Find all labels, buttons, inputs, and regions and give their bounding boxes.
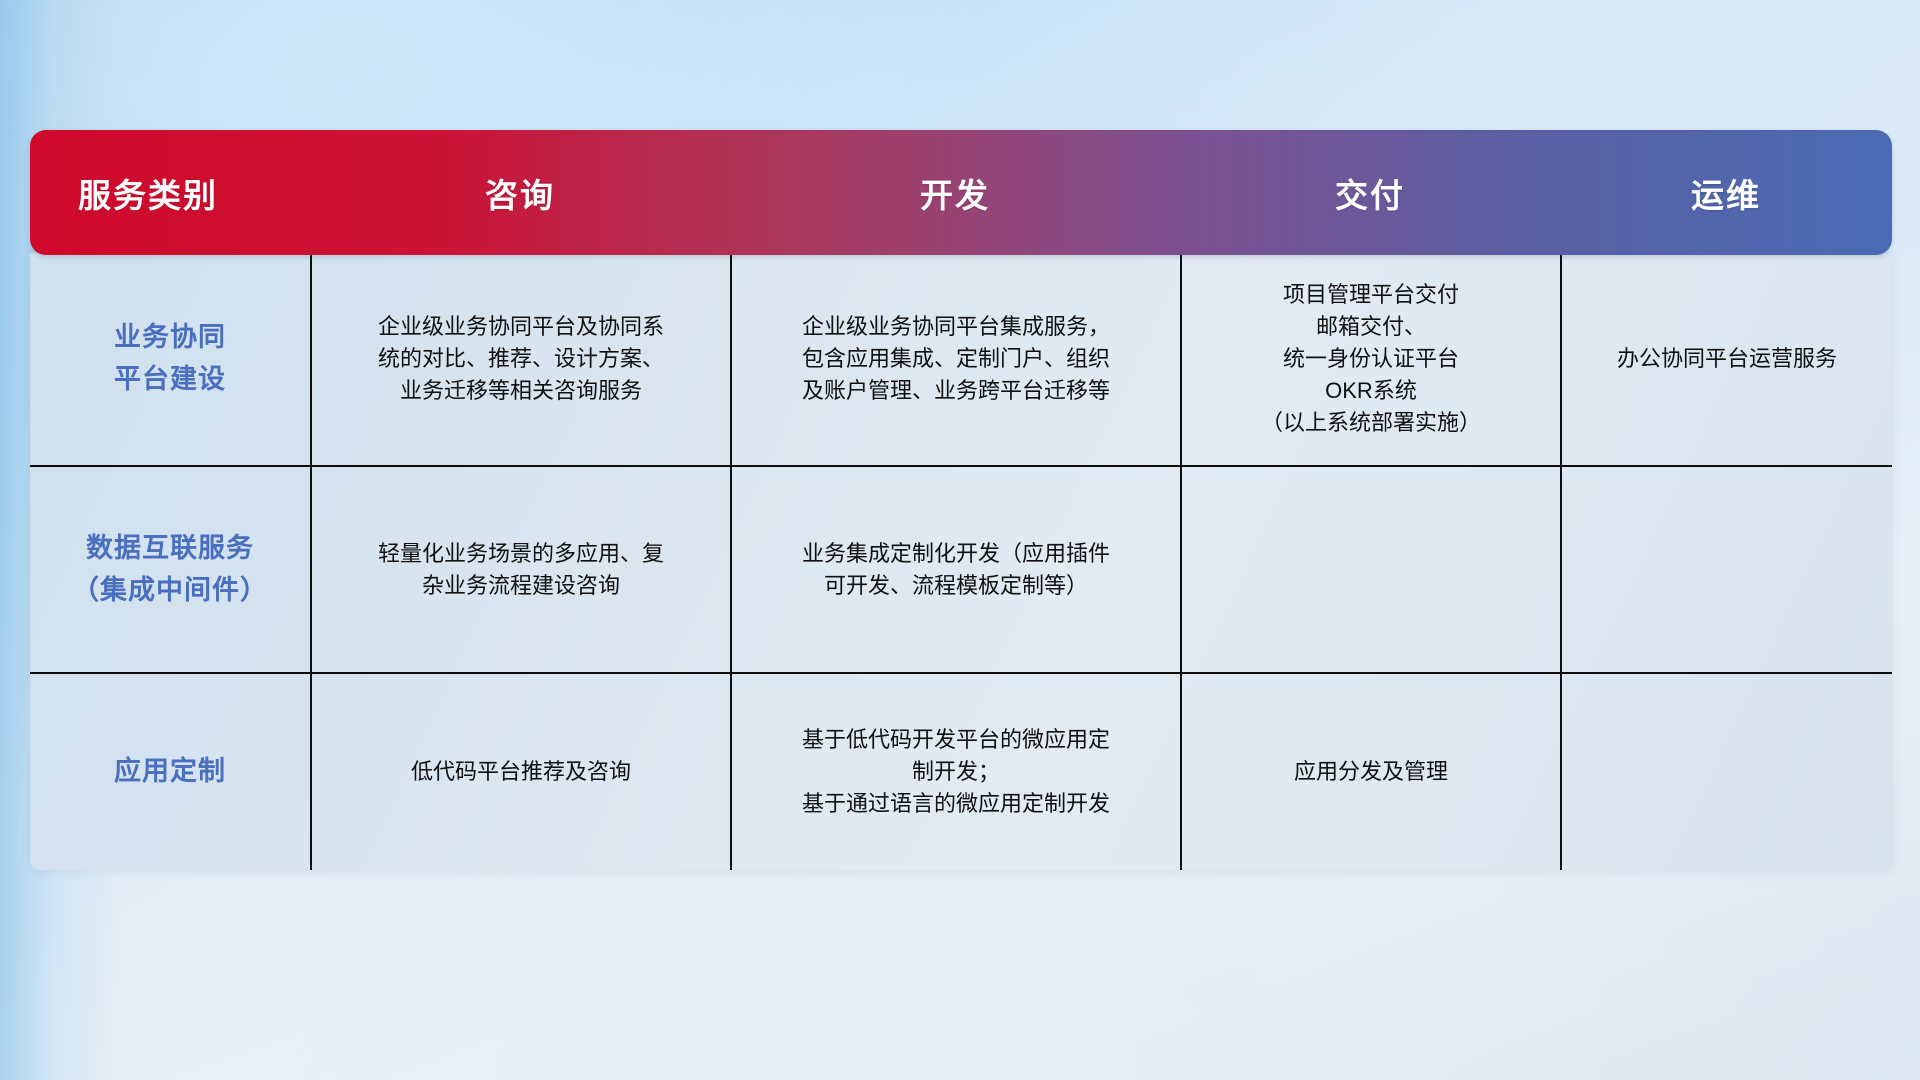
row-development-cell: 业务集成定制化开发（应用插件 可开发、流程模板定制等） (730, 467, 1180, 672)
column-header-development-label: 开发 (920, 169, 990, 217)
column-header-operations: 运维 (1560, 130, 1892, 255)
row-category-cell: 数据互联服务 （集成中间件） (30, 467, 310, 672)
row-operations-cell (1560, 467, 1892, 672)
row-operations-cell: 办公协同平台运营服务 (1560, 253, 1892, 465)
row-category-cell: 业务协同 平台建设 (30, 253, 310, 465)
column-header-category: 服务类别 (30, 130, 310, 255)
table-header-row: 服务类别 咨询 开发 交付 运维 (30, 130, 1892, 255)
row-consulting-cell: 轻量化业务场景的多应用、复 杂业务流程建设咨询 (310, 467, 730, 672)
column-header-consulting-label: 咨询 (485, 169, 555, 217)
column-header-category-label: 服务类别 (78, 169, 218, 217)
column-header-development: 开发 (730, 130, 1180, 255)
service-matrix-table: 服务类别 咨询 开发 交付 运维 业务协同 平台建设 企业级业务协同平台及协同系… (30, 130, 1892, 948)
row-delivery-cell (1180, 467, 1560, 672)
row-delivery-cell: 应用分发及管理 (1180, 674, 1560, 870)
column-header-operations-label: 运维 (1691, 169, 1761, 217)
row-development-cell: 企业级业务协同平台集成服务， 包含应用集成、定制门户、组织 及账户管理、业务跨平… (730, 253, 1180, 465)
row-operations-cell (1560, 674, 1892, 870)
column-header-delivery-label: 交付 (1335, 169, 1405, 217)
page-root: 服务类别 咨询 开发 交付 运维 业务协同 平台建设 企业级业务协同平台及协同系… (0, 0, 1920, 1080)
row-category-cell: 应用定制 (30, 674, 310, 870)
table-row: 业务协同 平台建设 企业级业务协同平台及协同系 统的对比、推荐、设计方案、 业务… (30, 253, 1892, 465)
column-header-delivery: 交付 (1180, 130, 1560, 255)
row-development-cell: 基于低代码开发平台的微应用定 制开发； 基于通过语言的微应用定制开发 (730, 674, 1180, 870)
row-delivery-cell: 项目管理平台交付 邮箱交付、 统一身份认证平台 OKR系统 （以上系统部署实施） (1180, 253, 1560, 465)
table-row: 应用定制 低代码平台推荐及咨询 基于低代码开发平台的微应用定 制开发； 基于通过… (30, 672, 1892, 870)
row-consulting-cell: 低代码平台推荐及咨询 (310, 674, 730, 870)
row-consulting-cell: 企业级业务协同平台及协同系 统的对比、推荐、设计方案、 业务迁移等相关咨询服务 (310, 253, 730, 465)
table-body: 业务协同 平台建设 企业级业务协同平台及协同系 统的对比、推荐、设计方案、 业务… (30, 253, 1892, 870)
table-row: 数据互联服务 （集成中间件） 轻量化业务场景的多应用、复 杂业务流程建设咨询 业… (30, 465, 1892, 672)
column-header-consulting: 咨询 (310, 130, 730, 255)
